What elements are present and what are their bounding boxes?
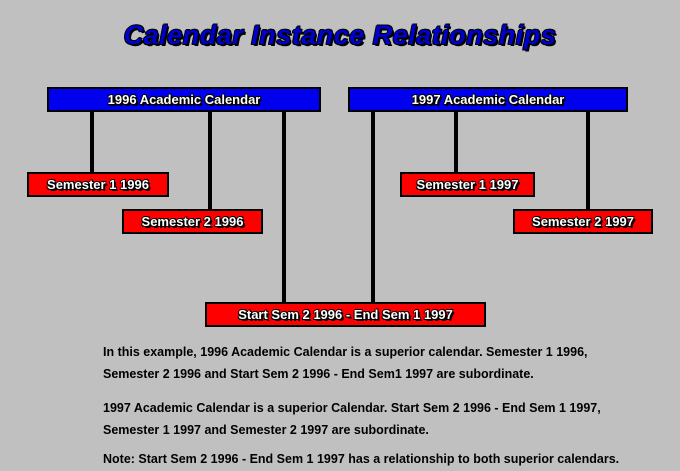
connector-cal1996-to-sem2-1996 [208,110,212,211]
connector-cal1997-to-start-sem2-1996 [371,110,375,304]
node-semester-1-1997[interactable]: Semester 1 1997 [400,172,535,197]
node-start-sem2-1996-end-sem1-1997[interactable]: Start Sem 2 1996 - End Sem 1 1997 [205,302,486,327]
node-label: Semester 1 1996 [47,177,149,192]
node-label: Start Sem 2 1996 - End Sem 1 1997 [238,307,453,322]
node-label: 1996 Academic Calendar [108,92,261,107]
node-label: 1997 Academic Calendar [412,92,565,107]
node-semester-2-1996[interactable]: Semester 2 1996 [122,209,263,234]
note-paragraph1-line2: Semester 2 1996 and Start Sem 2 1996 - E… [103,367,534,381]
note-footnote: Note: Start Sem 2 1996 - End Sem 1 1997 … [103,452,619,466]
note-paragraph2-line1: 1997 Academic Calendar is a superior Cal… [103,401,601,415]
connector-cal1997-to-sem2-1997 [586,110,590,211]
page-title: Calendar Instance Relationships [0,20,680,51]
diagram-canvas: Calendar Instance Relationships 1996 Aca… [0,0,680,471]
note-paragraph1-line1: In this example, 1996 Academic Calendar … [103,345,588,359]
node-label: Semester 1 1997 [417,177,519,192]
connector-cal1996-to-start-sem2-1996 [282,110,286,304]
node-label: Semester 2 1996 [142,214,244,229]
node-1996-academic-calendar[interactable]: 1996 Academic Calendar [47,87,321,112]
node-semester-1-1996[interactable]: Semester 1 1996 [27,172,169,197]
node-semester-2-1997[interactable]: Semester 2 1997 [513,209,653,234]
connector-cal1996-to-sem1-1996 [90,110,94,174]
connector-cal1997-to-sem1-1997 [454,110,458,174]
note-paragraph2-line2: Semester 1 1997 and Semester 2 1997 are … [103,423,429,437]
node-1997-academic-calendar[interactable]: 1997 Academic Calendar [348,87,628,112]
node-label: Semester 2 1997 [532,214,634,229]
